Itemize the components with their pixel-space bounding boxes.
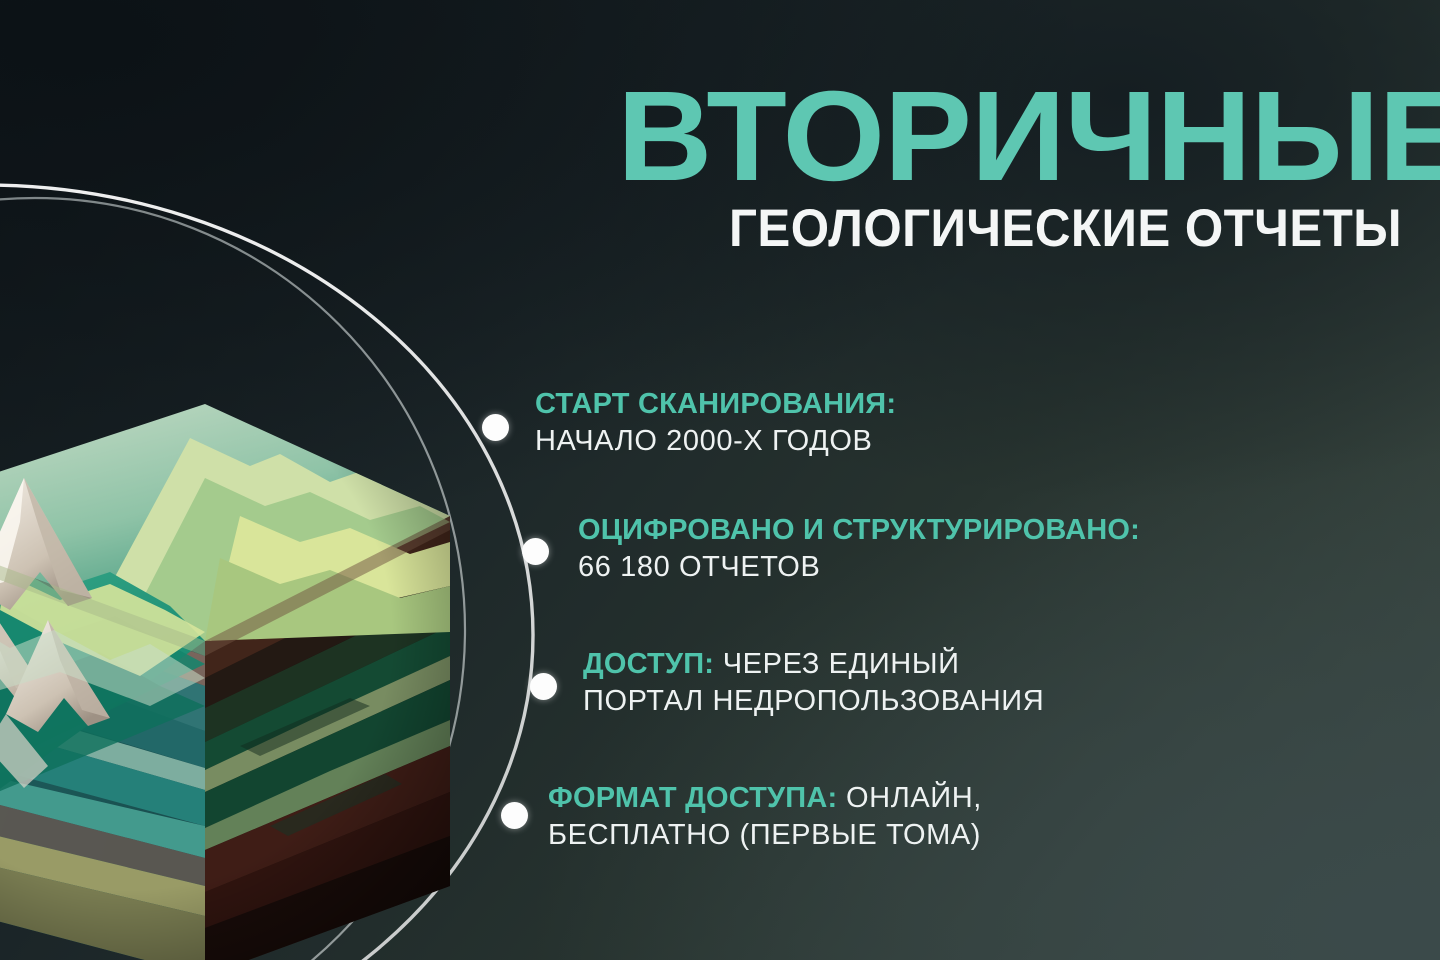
infographic-slide: ВТОРИЧНЫЕ ГЕОЛОГИЧЕСКИЕ ОТЧЕТЫ СТАРТ СКА… <box>0 0 1440 960</box>
bullet-list: СТАРТ СКАНИРОВАНИЯ: НАЧАЛО 2000-Х ГОДОВ … <box>0 0 1440 960</box>
bullet-4-line-1: ФОРМАТ ДОСТУПА: ОНЛАЙН, <box>548 780 982 817</box>
bullet-3-value-line2: ПОРТАЛ НЕДРОПОЛЬЗОВАНИЯ <box>583 685 1044 717</box>
bullet-1-key: СТАРТ СКАНИРОВАНИЯ: <box>535 386 896 423</box>
bullet-3-line-2: ПОРТАЛ НЕДРОПОЛЬЗОВАНИЯ <box>583 683 1044 720</box>
bullet-4-value-line2: БЕСПЛАТНО (ПЕРВЫЕ ТОМА) <box>548 819 981 851</box>
bullet-4-line-2: БЕСПЛАТНО (ПЕРВЫЕ ТОМА) <box>548 817 982 854</box>
bullet-item-4: ФОРМАТ ДОСТУПА: ОНЛАЙН, БЕСПЛАТНО (ПЕРВЫ… <box>548 780 982 854</box>
bullet-dot-1 <box>482 414 509 441</box>
bullet-4-key: ФОРМАТ ДОСТУПА: <box>548 782 837 814</box>
bullet-dot-3 <box>530 673 557 700</box>
bullet-4-value-line1: ОНЛАЙН, <box>837 782 982 814</box>
bullet-2-key: ОЦИФРОВАНО И СТРУКТУРИРОВАНО: <box>578 512 1140 549</box>
bullet-dot-4 <box>501 802 528 829</box>
bullet-3-value-line1: ЧЕРЕЗ ЕДИНЫЙ <box>714 648 959 680</box>
bullet-2-value: 66 180 ОТЧЕТОВ <box>578 549 1140 586</box>
bullet-3-key: ДОСТУП: <box>583 648 714 680</box>
bullet-1-value: НАЧАЛО 2000-Х ГОДОВ <box>535 423 896 460</box>
bullet-item-2: ОЦИФРОВАНО И СТРУКТУРИРОВАНО: 66 180 ОТЧ… <box>578 512 1140 586</box>
bullet-3-line-1: ДОСТУП: ЧЕРЕЗ ЕДИНЫЙ <box>583 646 1044 683</box>
bullet-dot-2 <box>522 538 549 565</box>
bullet-item-1: СТАРТ СКАНИРОВАНИЯ: НАЧАЛО 2000-Х ГОДОВ <box>535 386 896 460</box>
bullet-item-3: ДОСТУП: ЧЕРЕЗ ЕДИНЫЙ ПОРТАЛ НЕДРОПОЛЬЗОВ… <box>583 646 1044 720</box>
